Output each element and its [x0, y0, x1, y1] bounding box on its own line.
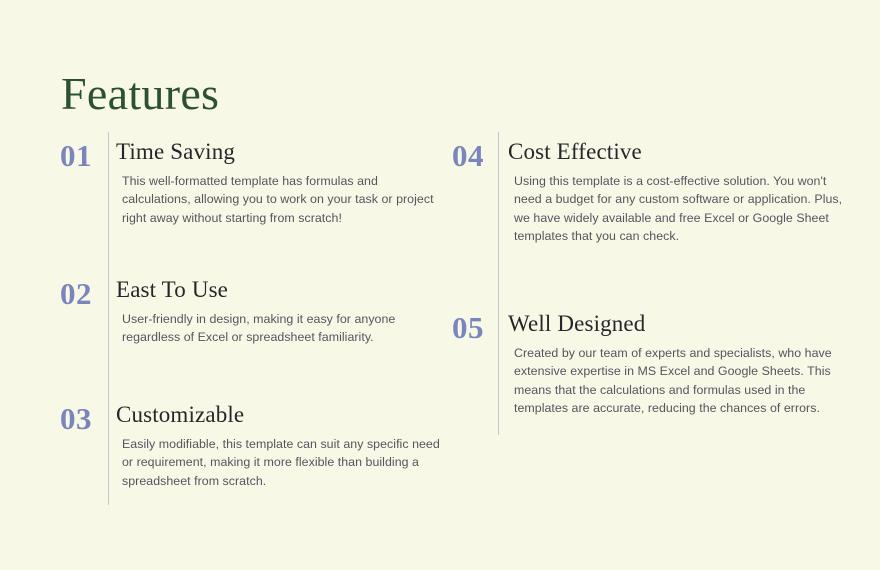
- feature-item-03: 03 Customizable Easily modifiable, this …: [60, 401, 440, 490]
- feature-content: Well Designed Created by our team of exp…: [500, 310, 844, 417]
- feature-description: Using this template is a cost-effective …: [508, 172, 844, 245]
- feature-number: 04: [452, 138, 500, 172]
- feature-content: East To Use User-friendly in design, mak…: [108, 276, 440, 347]
- feature-description: Created by our team of experts and speci…: [508, 344, 844, 417]
- feature-item-02: 02 East To Use User-friendly in design, …: [60, 276, 440, 347]
- feature-content: Customizable Easily modifiable, this tem…: [108, 401, 440, 490]
- feature-description: User-friendly in design, making it easy …: [116, 310, 440, 347]
- feature-item-01: 01 Time Saving This well-formatted templ…: [60, 138, 440, 227]
- feature-heading: Customizable: [116, 401, 440, 429]
- feature-item-04: 04 Cost Effective Using this template is…: [452, 138, 844, 245]
- feature-number: 05: [452, 310, 500, 344]
- feature-description: This well-formatted template has formula…: [116, 172, 440, 227]
- feature-number: 02: [60, 276, 108, 310]
- feature-item-05: 05 Well Designed Created by our team of …: [452, 310, 844, 417]
- feature-content: Time Saving This well-formatted template…: [108, 138, 440, 227]
- feature-content: Cost Effective Using this template is a …: [500, 138, 844, 245]
- features-slide: Features 01 Time Saving This well-format…: [0, 0, 880, 570]
- feature-heading: East To Use: [116, 276, 440, 304]
- feature-heading: Well Designed: [508, 310, 844, 338]
- feature-number: 03: [60, 401, 108, 435]
- feature-description: Easily modifiable, this template can sui…: [116, 435, 440, 490]
- feature-heading: Cost Effective: [508, 138, 844, 166]
- feature-number: 01: [60, 138, 108, 172]
- page-title: Features: [61, 65, 219, 123]
- feature-heading: Time Saving: [116, 138, 440, 166]
